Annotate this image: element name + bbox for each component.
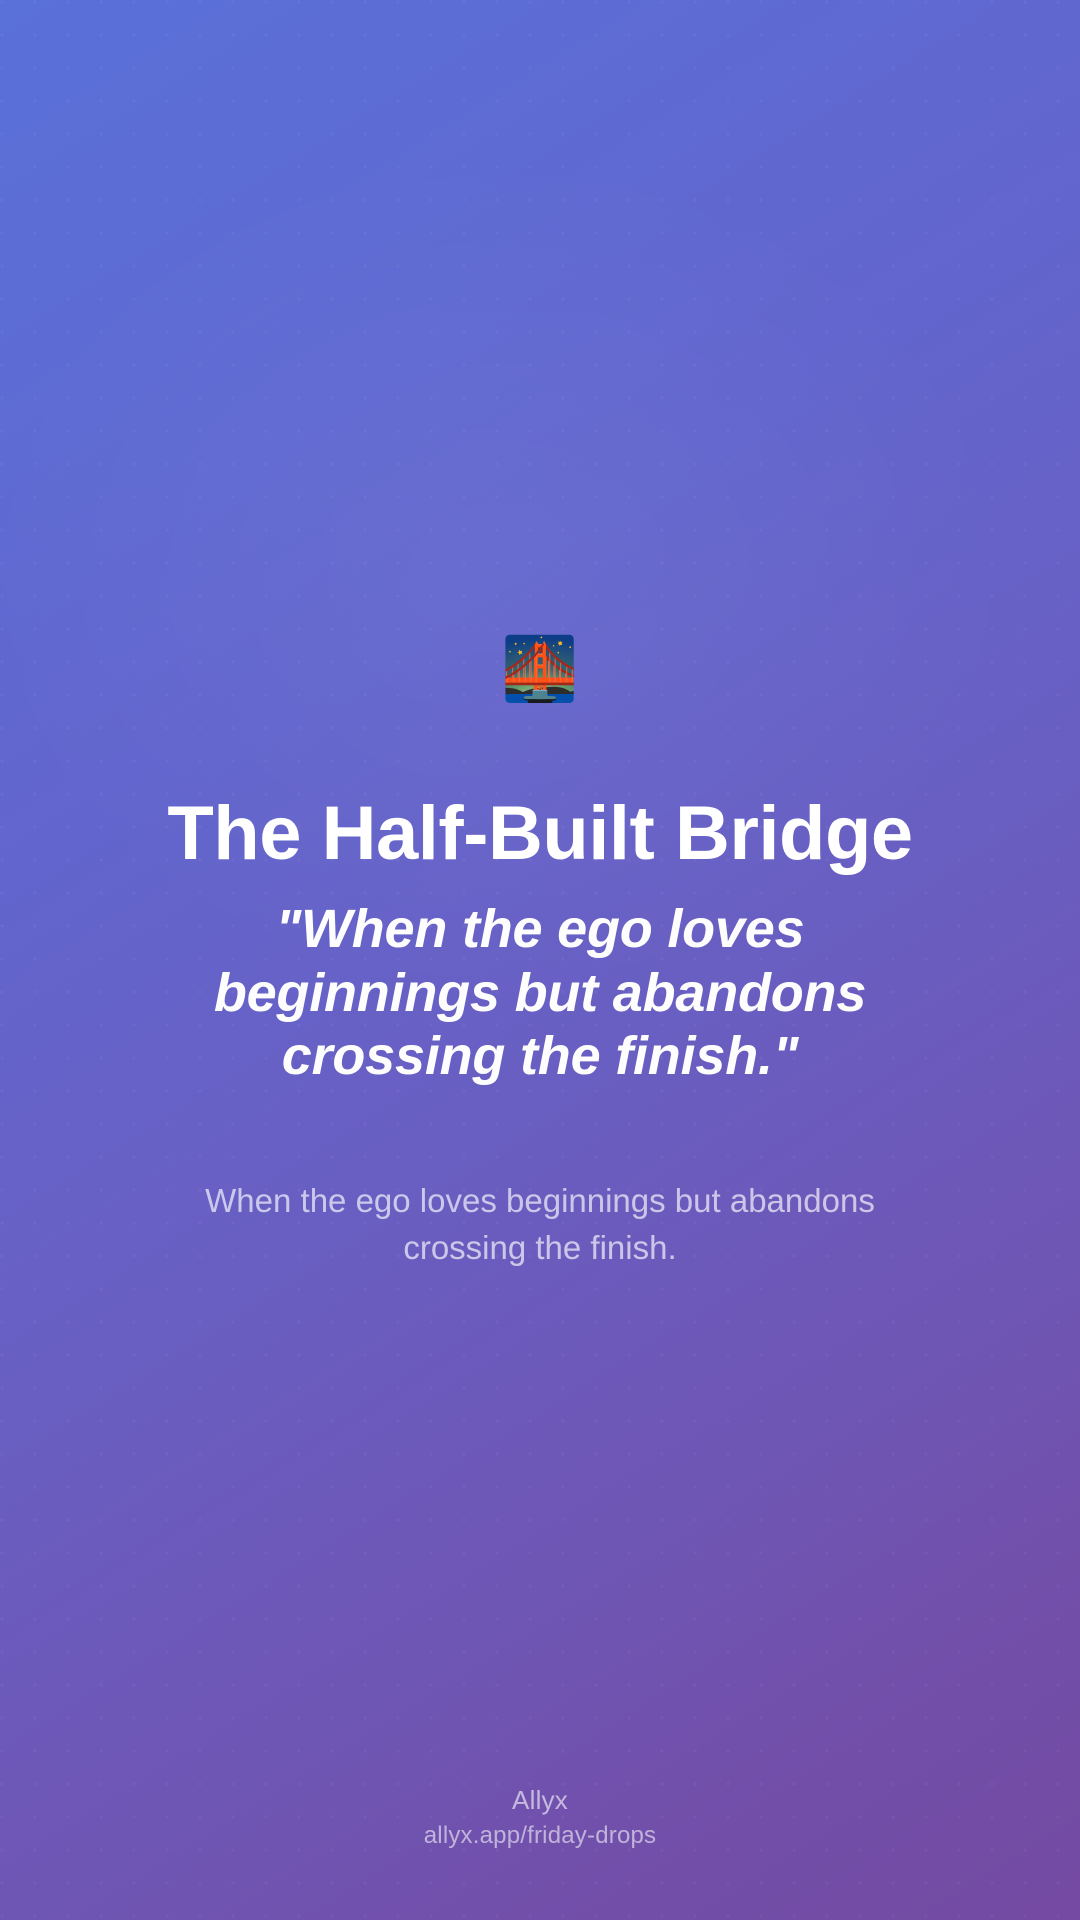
bridge-at-night-icon: 🌉 — [0, 638, 1080, 700]
footer-url[interactable]: allyx.app/friday-drops — [0, 1820, 1080, 1852]
quote-text: "When the ego loves beginnings but aband… — [190, 898, 890, 1089]
quote-poster: 🌉 The Half-Built Bridge "When the ego lo… — [0, 0, 1080, 1920]
footer-brand: Allyx — [0, 1783, 1080, 1818]
poster-content: 🌉 The Half-Built Bridge "When the ego lo… — [0, 0, 1080, 1920]
quote-subtitle: When the ego loves beginnings but abando… — [175, 1178, 905, 1272]
footer: Allyx allyx.app/friday-drops — [0, 1783, 1080, 1852]
page-title: The Half-Built Bridge — [0, 793, 1080, 875]
